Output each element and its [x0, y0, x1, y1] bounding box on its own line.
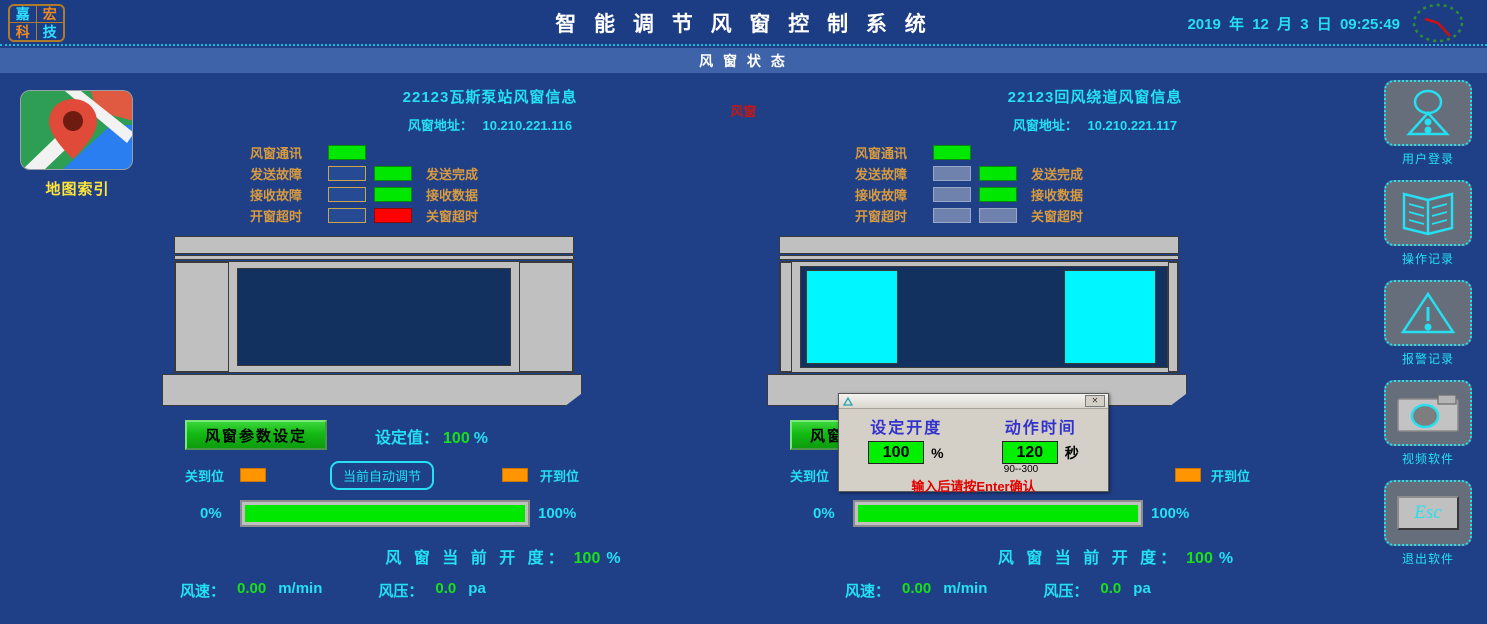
panel-title: 22123回风绕道风窗信息: [755, 86, 1435, 107]
set-value-label: 设定值：: [375, 430, 439, 447]
status-label-secondary: 关窗超时: [1031, 206, 1083, 225]
status-row: 接收故障 接收数据: [250, 184, 830, 205]
clock-time: 09:25:49: [1340, 16, 1400, 33]
sidebar-item-operation-log[interactable]: 操作记录: [1374, 180, 1482, 267]
analog-clock-icon: [1409, 2, 1467, 44]
set-value-unit: %: [474, 430, 488, 447]
wind-speed-value: 0.00: [902, 580, 931, 601]
status-lamp: [933, 145, 971, 160]
air-window-diagram: [755, 236, 1435, 408]
status-lamp: [328, 145, 366, 160]
open-position-lamp: [1175, 468, 1201, 482]
esc-key-text: Esc: [1414, 502, 1441, 524]
closed-position-label: 关到位: [790, 466, 829, 485]
camera-icon: [1395, 391, 1461, 435]
date-month: 12: [1252, 16, 1269, 33]
dialog-app-icon: [843, 396, 854, 407]
opening-progress-row: 0% 100%: [150, 500, 830, 532]
dialog-field1-group: 100 %: [868, 441, 943, 464]
wind-speed-unit: m/min: [278, 580, 322, 601]
wind-speed-label: 风速：: [180, 580, 225, 601]
bar-max-label: 100%: [1151, 505, 1189, 522]
esc-key-icon: Esc: [1397, 496, 1459, 530]
status-label: 发送故障: [250, 164, 328, 183]
meter-readout-row: 风速： 0.00 m/min 风压： 0.0 pa: [755, 580, 1435, 601]
window-lintel: [174, 236, 574, 254]
auto-mode-button[interactable]: 当前自动调节: [330, 461, 434, 490]
status-lamp: [933, 208, 971, 223]
status-label: 开窗超时: [250, 206, 328, 225]
dialog-close-button[interactable]: ✕: [1085, 395, 1105, 407]
alarm-log-button[interactable]: [1384, 280, 1472, 346]
date-month-unit: 月: [1277, 16, 1292, 33]
dialog-field-headers: 设定开度 动作时间: [839, 414, 1108, 438]
wind-speed-value: 0.00: [237, 580, 266, 601]
status-label: 接收故障: [855, 185, 933, 204]
closed-position-lamp: [240, 468, 266, 482]
address-label: 风窗地址：: [408, 118, 473, 133]
current-opening-readout: 风 窗 当 前 开 度：100%: [755, 544, 1435, 568]
address-label: 风窗地址：: [1013, 118, 1078, 133]
status-lamp: [933, 166, 971, 181]
dialog-warning-text: 输入后请按Enter确认: [839, 476, 1108, 495]
status-row: 风窗通讯: [250, 142, 830, 163]
window-lintel-strip: [779, 255, 1179, 260]
current-opening-unit: %: [1219, 550, 1237, 567]
opening-progress-bar[interactable]: [853, 500, 1143, 527]
position-indicator-row: 关到位 当前自动调节 开到位: [150, 462, 830, 492]
status-row: 开窗超时 关窗超时: [855, 205, 1435, 226]
current-opening-label: 风 窗 当 前 开 度：: [998, 550, 1180, 567]
sidebar-label-operation-log: 操作记录: [1374, 250, 1482, 267]
status-label-secondary: 发送完成: [1031, 164, 1083, 183]
status-indicator-group: 风窗通讯 发送故障 发送完成 接收故障 接收数据 开窗超时 关窗超时: [250, 142, 830, 226]
sidebar-item-alarm-log[interactable]: 报警记录: [1374, 280, 1482, 367]
current-opening-value: 100: [574, 550, 601, 567]
panel-left: 22123瓦斯泵站风窗信息 风窗地址： 10.210.221.116 风窗通讯 …: [150, 86, 830, 624]
address-value: 10.210.221.117: [1087, 118, 1177, 133]
wind-pressure-label: 风压：: [1043, 580, 1088, 601]
wind-pressure-value: 0.0: [1100, 580, 1121, 601]
sidebar-item-exit-software[interactable]: Esc 退出软件: [1374, 480, 1482, 567]
wind-pressure-unit: pa: [468, 580, 486, 601]
panel-right: 22123回风绕道风窗信息 风窗地址： 10.210.221.117 风窗通讯 …: [755, 86, 1435, 624]
open-position-lamp: [502, 468, 528, 482]
status-row: 发送故障 发送完成: [855, 163, 1435, 184]
sidebar-label-video-software: 视频软件: [1374, 450, 1482, 467]
date-year: 2019: [1187, 16, 1220, 33]
exit-software-button[interactable]: Esc: [1384, 480, 1472, 546]
date-day: 3: [1300, 16, 1308, 33]
status-label-secondary: 发送完成: [426, 164, 478, 183]
status-row: 开窗超时 关窗超时: [250, 205, 830, 226]
bar-min-label: 0%: [813, 505, 835, 522]
date-year-unit: 年: [1229, 16, 1244, 33]
status-label-secondary: 关窗超时: [426, 206, 478, 225]
top-bar: 嘉 宏 科 技 智 能 调 节 风 窗 控 制 系 统 2019 年 12 月 …: [0, 0, 1487, 46]
sidebar-label-alarm-log: 报警记录: [1374, 350, 1482, 367]
opening-progress-bar[interactable]: [240, 500, 530, 527]
user-icon: [1399, 89, 1457, 137]
status-lamp-secondary: [979, 187, 1017, 202]
status-lamp-secondary: [979, 208, 1017, 223]
video-software-button[interactable]: [1384, 380, 1472, 446]
panel-address: 风窗地址： 10.210.221.117: [755, 115, 1435, 134]
meter-readout-row: 风速： 0.00 m/min 风压： 0.0 pa: [150, 580, 830, 601]
status-lamp-secondary: [374, 166, 412, 181]
current-opening-readout: 风 窗 当 前 开 度：100%: [150, 544, 830, 568]
map-index[interactable]: 地图索引: [20, 90, 135, 199]
window-opening: [237, 268, 511, 366]
window-left-column: [780, 262, 792, 372]
window-base: [162, 374, 582, 406]
open-position-label: 开到位: [1211, 466, 1250, 485]
control-row-primary: 风窗参数设定 设定值：100%: [150, 420, 830, 456]
current-opening-unit: %: [606, 550, 624, 567]
sidebar-label-exit-software: 退出软件: [1374, 550, 1482, 567]
opening-progress-fill: [858, 505, 1138, 522]
window-frame: [174, 261, 574, 373]
status-indicator-group: 风窗通讯 发送故障 发送完成 接收故障 接收数据 开窗超时 关窗超时: [855, 142, 1435, 226]
window-frame: [779, 261, 1179, 373]
opening-setpoint-input[interactable]: 100: [868, 441, 924, 464]
dialog-range-hint: 90--300: [934, 464, 1108, 475]
status-header-bar: 风 窗 状 态: [0, 48, 1487, 73]
window-lintel: [779, 236, 1179, 254]
window-right-column: [1168, 262, 1178, 372]
current-opening-label: 风 窗 当 前 开 度：: [385, 550, 567, 567]
sidebar-item-video-software[interactable]: 视频软件: [1374, 380, 1482, 467]
dialog-field2-group: 120 秒: [1002, 441, 1079, 464]
status-lamp: [328, 166, 366, 181]
map-pin-icon[interactable]: [20, 90, 133, 170]
status-label: 风窗通讯: [855, 143, 933, 162]
warning-triangle-icon: [1399, 290, 1457, 336]
dialog-titlebar[interactable]: ✕: [839, 394, 1108, 409]
bar-min-label: 0%: [200, 505, 222, 522]
opening-progress-fill: [245, 505, 525, 522]
status-label-secondary: 接收数据: [1031, 185, 1083, 204]
map-index-label: 地图索引: [20, 178, 135, 199]
sidebar-label-user-login: 用户登录: [1374, 150, 1482, 167]
status-lamp-secondary: [979, 166, 1017, 181]
panel-title: 22123瓦斯泵站风窗信息: [150, 86, 830, 107]
book-icon: [1399, 190, 1457, 236]
status-row: 接收故障 接收数据: [855, 184, 1435, 205]
action-time-input[interactable]: 120: [1002, 441, 1058, 464]
open-position-label: 开到位: [540, 466, 579, 485]
dialog-field-row: 100 % 120 秒: [839, 441, 1108, 464]
panel-address: 风窗地址： 10.210.221.116: [150, 115, 830, 134]
dialog-field2-label: 动作时间: [1005, 414, 1077, 438]
window-parameter-setting-button[interactable]: 风窗参数设定: [185, 420, 327, 450]
wind-speed-unit: m/min: [943, 580, 987, 601]
operation-log-button[interactable]: [1384, 180, 1472, 246]
status-label: 接收故障: [250, 185, 328, 204]
date-day-unit: 日: [1317, 16, 1332, 33]
dialog-field2-unit: 秒: [1065, 443, 1079, 463]
window-left-column: [175, 262, 229, 372]
window-shutter-right: [1064, 270, 1156, 364]
set-value-display: 设定值：100%: [375, 424, 488, 448]
status-lamp: [933, 187, 971, 202]
status-lamp: [328, 208, 366, 223]
status-label: 开窗超时: [855, 206, 933, 225]
status-label: 风窗通讯: [250, 143, 328, 162]
status-lamp-secondary: [374, 187, 412, 202]
wind-pressure-value: 0.0: [435, 580, 456, 601]
status-lamp: [328, 187, 366, 202]
status-row: 风窗通讯: [855, 142, 1435, 163]
status-lamp-secondary: [374, 208, 412, 223]
wind-pressure-unit: pa: [1133, 580, 1151, 601]
set-value-number: 100: [443, 430, 470, 447]
current-opening-value: 100: [1186, 550, 1213, 567]
datetime-display: 2019 年 12 月 3 日 09:25:49: [1185, 13, 1402, 34]
window-lintel-strip: [174, 255, 574, 260]
status-label-secondary: 接收数据: [426, 185, 478, 204]
user-login-button[interactable]: [1384, 80, 1472, 146]
status-row: 发送故障 发送完成: [250, 163, 830, 184]
window-shutter-left: [806, 270, 898, 364]
status-header-title: 风 窗 状 态: [699, 51, 788, 71]
bar-max-label: 100%: [538, 505, 576, 522]
address-value: 10.210.221.116: [482, 118, 572, 133]
parameter-setting-dialog[interactable]: ✕ 设定开度 动作时间 100 % 120 秒 90--300 输入后请按Ent…: [838, 393, 1109, 492]
dialog-field1-unit: %: [931, 445, 943, 461]
status-label: 发送故障: [855, 164, 933, 183]
dialog-field1-label: 设定开度: [870, 414, 942, 438]
sidebar: 用户登录 操作记录 报警记录: [1374, 80, 1482, 580]
closed-position-label: 关到位: [185, 466, 224, 485]
opening-progress-row: 0% 100%: [755, 500, 1435, 532]
wind-speed-label: 风速：: [845, 580, 890, 601]
wind-pressure-label: 风压：: [378, 580, 423, 601]
air-window-diagram: [150, 236, 830, 408]
window-right-column: [519, 262, 573, 372]
sidebar-item-user-login[interactable]: 用户登录: [1374, 80, 1482, 167]
